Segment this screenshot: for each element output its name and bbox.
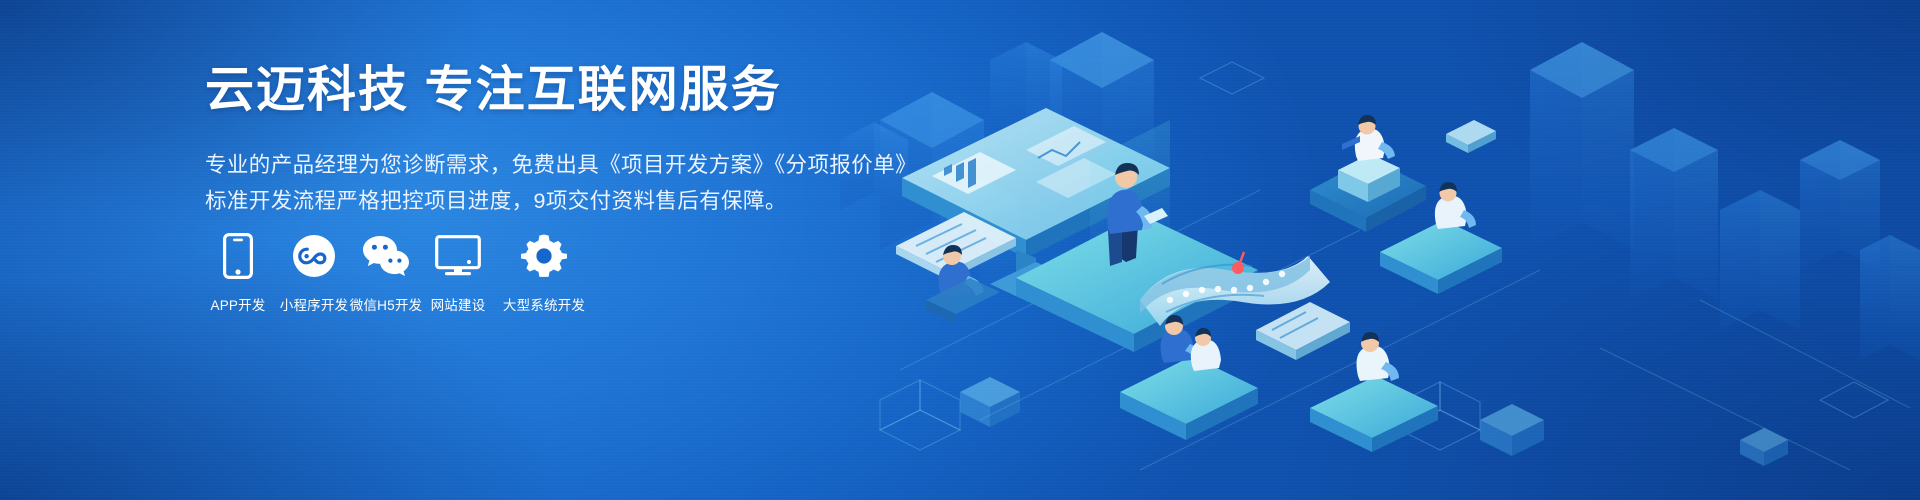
person-upper-right [1342, 115, 1395, 161]
hero-subtitle-line-1: 专业的产品经理为您诊断需求，免费出具《项目开发方案》《分项报价单》 [205, 148, 905, 182]
service-label-wechat-h5: 微信H5开发 [350, 294, 422, 314]
service-label-app: APP开发 [210, 294, 265, 314]
hero-banner: 云迈科技 专注互联网服务 专业的产品经理为您诊断需求，免费出具《项目开发方案》《… [0, 0, 1920, 500]
page-title: 云迈科技 专注互联网服务 [205, 62, 905, 118]
mobile-phone-icon [223, 232, 253, 280]
service-item-wechat-h5[interactable]: 微信H5开发 [350, 232, 422, 314]
floating-badge [1446, 120, 1496, 153]
service-item-large-system[interactable]: 大型系统开发 [494, 232, 594, 314]
mini-program-icon [292, 232, 336, 280]
gear-icon [521, 232, 567, 280]
service-item-website[interactable]: 网站建设 [422, 232, 494, 314]
person-mid-right [1435, 182, 1476, 229]
service-label-website: 网站建设 [431, 294, 486, 314]
service-icon-row: APP开发 小程序开发 [202, 232, 594, 314]
service-label-large-system: 大型系统开发 [503, 294, 585, 314]
service-label-miniprogram: 小程序开发 [280, 294, 349, 314]
hero-subtitle-line-2: 标准开发流程严格把控项目进度，9项交付资料售后有保障。 [205, 184, 905, 218]
wechat-icon [361, 232, 411, 280]
person-lower-left-b [1191, 328, 1221, 371]
service-item-miniprogram[interactable]: 小程序开发 [278, 232, 350, 314]
person-lower-right [1357, 332, 1400, 381]
monitor-icon [435, 232, 481, 280]
hero-copy: 云迈科技 专注互联网服务 专业的产品经理为您诊断需求，免费出具《项目开发方案》《… [205, 62, 905, 218]
isometric-illustration [840, 0, 1920, 500]
floating-ui-card [1256, 302, 1350, 360]
service-item-app[interactable]: APP开发 [202, 232, 274, 314]
